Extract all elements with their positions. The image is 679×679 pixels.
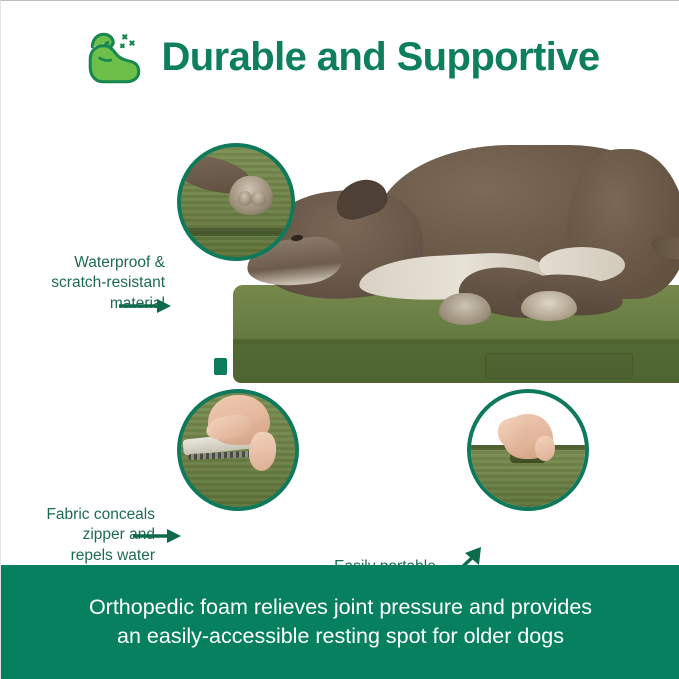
flexing-bicep-icon <box>82 24 148 90</box>
inset-paw-pad <box>251 191 265 206</box>
callout-line: scratch-resistant <box>13 273 165 293</box>
product-infographic: Durable and Supportive <box>0 0 679 679</box>
callout-line: Waterproof & <box>13 253 165 273</box>
header: Durable and Supportive <box>1 15 679 99</box>
arrow-right-icon <box>133 527 185 545</box>
inset-fabric-seam <box>177 228 295 236</box>
arrow-up-right-icon <box>441 543 487 566</box>
dog-bed-seam <box>233 339 679 344</box>
dog-photo <box>247 143 679 333</box>
brand-tag <box>214 358 227 375</box>
dog-front-paw <box>439 293 491 325</box>
inset-hand-gripping-handle <box>467 389 589 511</box>
callout-line: repels water <box>3 546 155 566</box>
inset-hand-opening-zipper <box>177 389 299 511</box>
dog-hind-paw <box>521 291 577 321</box>
dog-bed-handle-slot <box>485 353 633 379</box>
arrow-right-icon <box>119 297 175 315</box>
banner-line: Orthopedic foam relieves joint pressure … <box>89 593 592 622</box>
bottom-banner: Orthopedic foam relieves joint pressure … <box>1 565 679 679</box>
page-title: Durable and Supportive <box>162 37 600 77</box>
callout-line: Fabric conceals <box>3 505 155 525</box>
inset-paw-on-fabric <box>177 143 295 261</box>
banner-line: an easily-accessible resting spot for ol… <box>117 622 564 651</box>
product-photo: Waterproof & scratch-resistant material … <box>1 101 679 566</box>
